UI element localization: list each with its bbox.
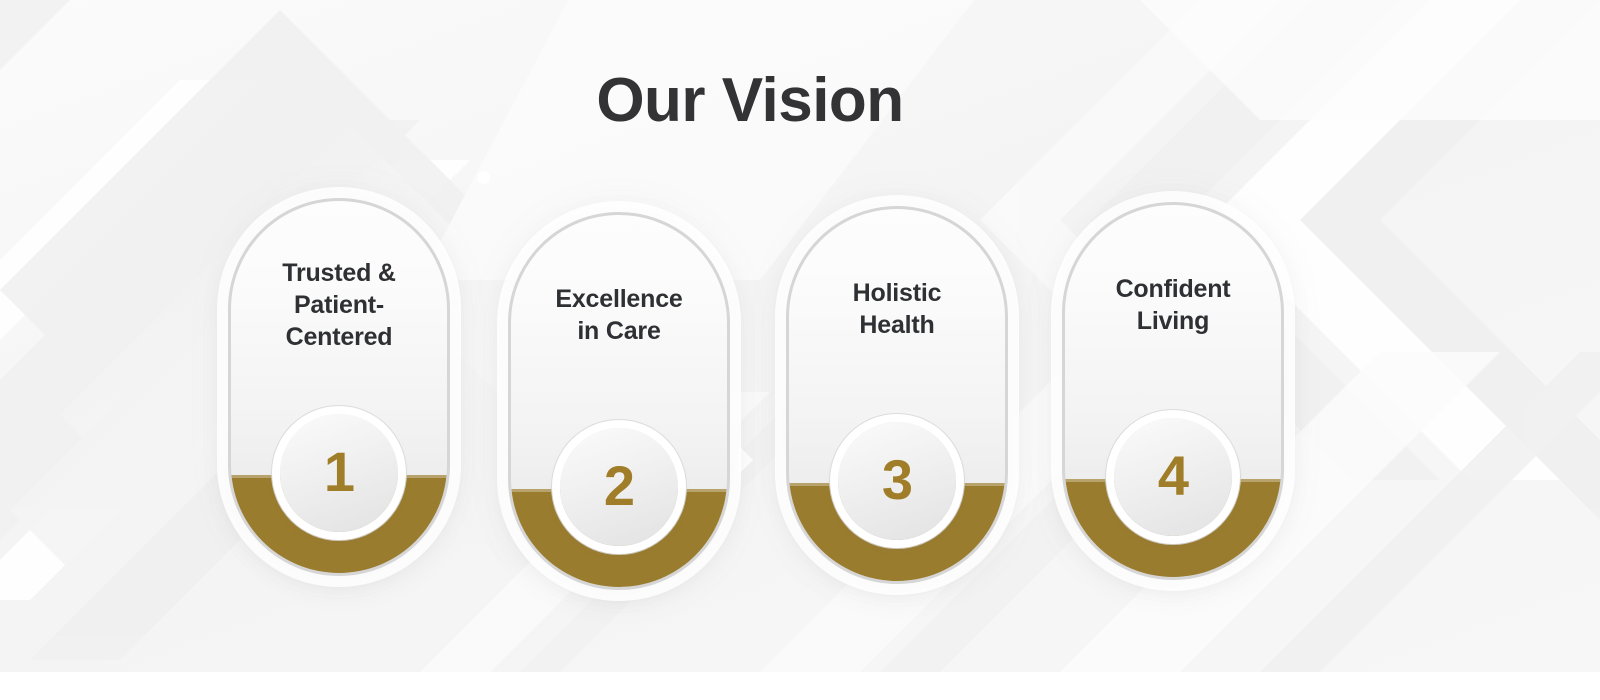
card-heading-line: Patient- <box>245 289 433 321</box>
card-heading-line: Trusted & <box>245 257 433 289</box>
card-heading: Confident Living <box>1079 273 1267 337</box>
card-number: 3 <box>882 452 912 508</box>
card-number-badge: 3 <box>838 422 956 540</box>
card-heading-line: Centered <box>245 321 433 353</box>
card-number-badge: 2 <box>560 428 678 546</box>
vision-section: Our Vision Trusted & Patient- Centered 1 <box>0 0 1600 700</box>
card-heading: Trusted & Patient- Centered <box>245 257 433 353</box>
card-heading: Excellence in Care <box>525 283 713 347</box>
card-number-badge: 4 <box>1114 418 1232 536</box>
card-number: 4 <box>1158 448 1188 504</box>
card-heading-line: in Care <box>525 315 713 347</box>
card-number-badge: 1 <box>280 414 398 532</box>
card-number: 1 <box>324 444 354 500</box>
vision-card[interactable]: Trusted & Patient- Centered 1 <box>228 198 450 576</box>
card-heading: Holistic Health <box>803 277 991 341</box>
card-heading-line: Holistic <box>803 277 991 309</box>
vision-card[interactable]: Holistic Health 3 <box>786 206 1008 584</box>
vision-card[interactable]: Excellence in Care 2 <box>508 212 730 590</box>
card-heading-line: Health <box>803 309 991 341</box>
card-heading-line: Confident <box>1079 273 1267 305</box>
vision-card[interactable]: Confident Living 4 <box>1062 202 1284 580</box>
card-number: 2 <box>604 458 634 514</box>
card-heading-line: Living <box>1079 305 1267 337</box>
vision-card-list: Trusted & Patient- Centered 1 Excellence… <box>0 0 1600 700</box>
card-heading-line: Excellence <box>525 283 713 315</box>
